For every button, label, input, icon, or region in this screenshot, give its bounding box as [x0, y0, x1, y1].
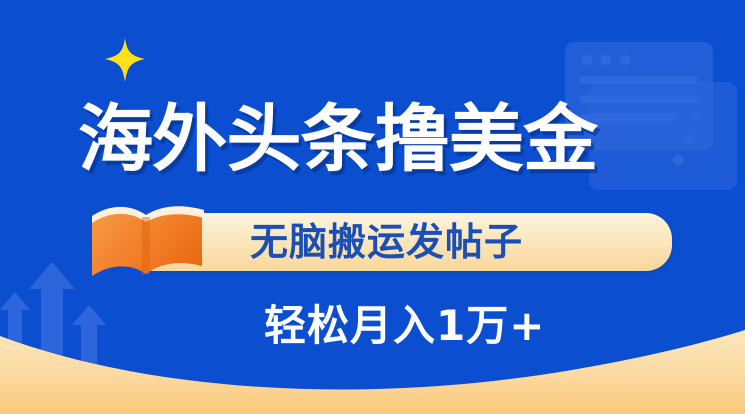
open-book-icon [90, 204, 210, 286]
subheadline: 轻松月入1万+ [264, 300, 545, 352]
ribbon-banner-label: 无脑搬运发帖子 [250, 218, 523, 266]
sparkle-star-icon [105, 38, 145, 82]
page-title: 海外头条撸美金 [78, 101, 696, 179]
promo-poster: 海外头条撸美金 无脑搬运发帖子 轻松月入1万+ [0, 0, 745, 414]
